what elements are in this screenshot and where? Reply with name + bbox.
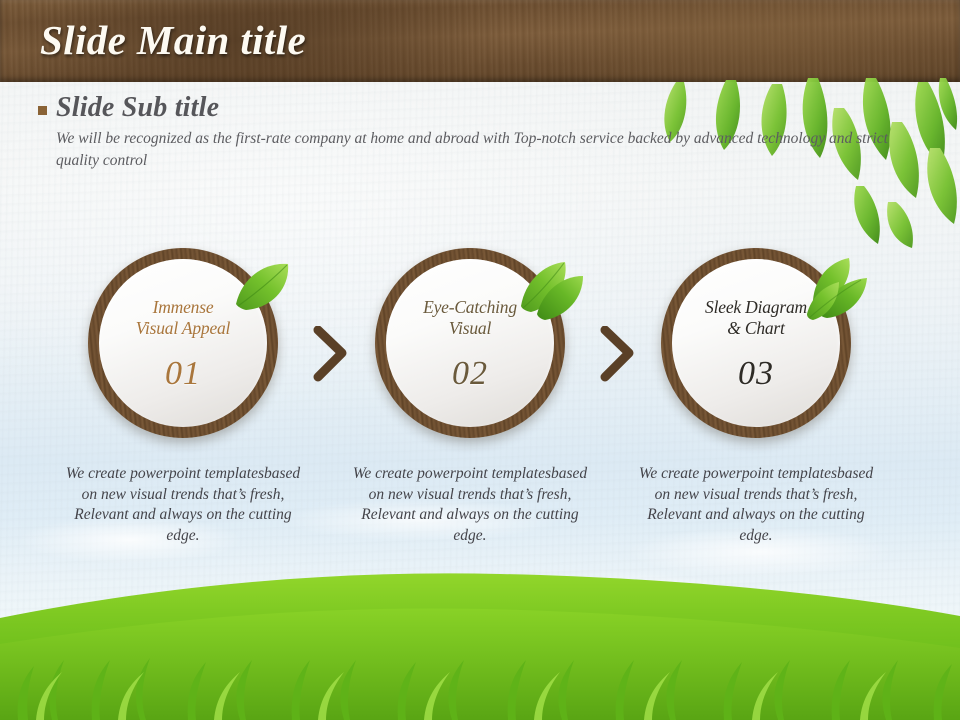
step-description-2: We create powerpoint templatesbased on n… xyxy=(327,464,613,546)
step-label-2: Eye-Catching Visual xyxy=(407,297,533,338)
step-circle-3[interactable]: Sleek Diagram & Chart 03 xyxy=(661,248,851,438)
slide-canvas: Slide Main title xyxy=(0,0,960,720)
circle-wrap-3: Sleek Diagram & Chart 03 xyxy=(661,248,851,438)
step-number-1: 01 xyxy=(165,355,201,393)
square-bullet-icon xyxy=(38,106,47,115)
step-number-3: 03 xyxy=(738,355,774,393)
step-circle-2[interactable]: Eye-Catching Visual 02 xyxy=(375,248,565,438)
sub-description: We will be recognized as the first-rate … xyxy=(56,128,916,172)
step-label-1-line2: Visual Appeal xyxy=(136,318,230,338)
page-title: Slide Main title xyxy=(40,16,306,64)
step-description-1: We create powerpoint templatesbased on n… xyxy=(40,464,326,546)
step-label-3-line1: Sleek Diagram xyxy=(705,297,807,317)
steps-row: Immense Visual Appeal 01 xyxy=(0,248,960,588)
step-item-2[interactable]: Eye-Catching Visual 02 xyxy=(327,248,613,546)
circle-wrap-2: Eye-Catching Visual 02 xyxy=(375,248,565,438)
step-label-1: Immense Visual Appeal xyxy=(120,297,246,338)
step-number-2: 02 xyxy=(452,355,488,393)
chevron-right-icon xyxy=(597,326,637,382)
step-label-3: Sleek Diagram & Chart xyxy=(689,297,823,338)
subtitle-block: Slide Sub title We will be recognized as… xyxy=(38,92,916,172)
step-item-3[interactable]: Sleek Diagram & Chart 03 xyxy=(613,248,899,546)
sub-title: Slide Sub title xyxy=(56,92,219,124)
step-label-2-line1: Eye-Catching xyxy=(423,297,517,317)
step-label-2-line2: Visual xyxy=(449,318,491,338)
circle-wrap-1: Immense Visual Appeal 01 xyxy=(88,248,278,438)
step-item-1[interactable]: Immense Visual Appeal 01 xyxy=(40,248,326,546)
chevron-right-icon xyxy=(310,326,350,382)
step-label-1-line1: Immense xyxy=(153,297,214,317)
step-circle-1[interactable]: Immense Visual Appeal 01 xyxy=(88,248,278,438)
subtitle-row: Slide Sub title xyxy=(38,92,916,124)
step-description-3: We create powerpoint templatesbased on n… xyxy=(613,464,899,546)
step-label-3-line2: & Chart xyxy=(727,318,784,338)
